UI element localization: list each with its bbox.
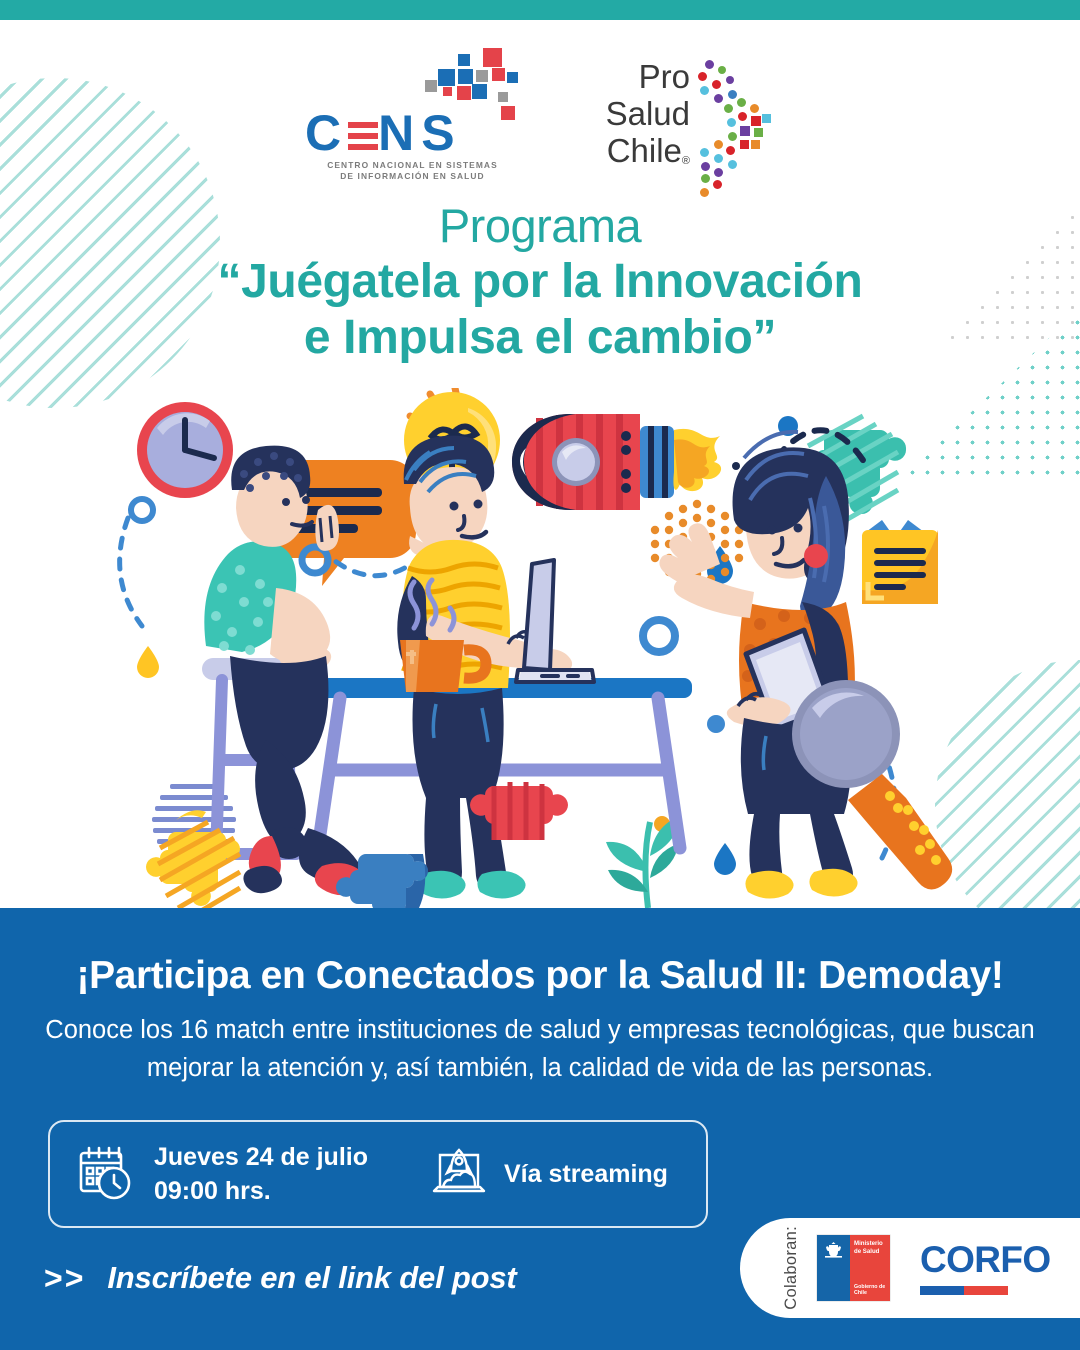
collaborators-card: Colaboran: Ministerio de Salud Gobierno … [740, 1218, 1080, 1318]
cens-letter-e [348, 120, 378, 154]
register-cta[interactable]: >> Inscríbete en el link del post [44, 1260, 517, 1296]
cens-letter-c: C [305, 105, 348, 161]
program-title-block: Programa “Juégatela por la Innovación e … [0, 198, 1080, 366]
psc-line-salud: Salud [560, 95, 690, 132]
pro-salud-chile-dot-mark-icon [698, 60, 770, 182]
cens-letter-n: N [378, 105, 421, 161]
rocket-laptop-icon [430, 1143, 488, 1206]
teamwork-innovation-illustration [110, 388, 970, 910]
double-chevron-icon: >> [44, 1262, 85, 1294]
corfo-wordmark: CORFO [920, 1241, 1052, 1279]
streaming-label: Vía streaming [504, 1160, 668, 1189]
cens-letter-s: S [421, 105, 461, 161]
program-title-line2: e Impulsa el cambio” [0, 310, 1080, 366]
coat-of-arms-icon [824, 1241, 843, 1264]
event-date-item: Jueves 24 de julio 09:00 hrs. [76, 1140, 368, 1208]
cens-tagline-line2: DE INFORMACIÓN EN SALUD [305, 171, 520, 182]
program-label: Programa [0, 198, 1080, 254]
cens-tagline-line1: CENTRO NACIONAL EN SISTEMAS [305, 160, 520, 171]
event-headline: ¡Participa en Conectados por la Salud II… [0, 954, 1080, 998]
registered-mark: ® [682, 155, 690, 167]
event-time-line2: 09:00 hrs. [154, 1174, 368, 1208]
collaborators-label: Colaboran: [782, 1226, 801, 1310]
event-date-text: Jueves 24 de julio 09:00 hrs. [154, 1140, 368, 1208]
minsal-top-text: Ministerio de Salud [854, 1240, 890, 1255]
calendar-clock-icon [76, 1141, 138, 1208]
ministerio-de-salud-logo: Ministerio de Salud Gobierno de Chile [817, 1235, 890, 1301]
corfo-flag-bar [920, 1286, 1008, 1295]
pro-salud-chile-wordmark: Pro Salud Chile® [560, 58, 690, 180]
event-description: Conoce los 16 match entre instituciones … [40, 1011, 1040, 1087]
event-date-line1: Jueves 24 de julio [154, 1140, 368, 1174]
cens-wordmark: CNS [305, 110, 520, 156]
cens-tagline: CENTRO NACIONAL EN SISTEMAS DE INFORMACI… [305, 160, 520, 182]
minsal-bottom-text: Gobierno de Chile [854, 1284, 890, 1296]
top-accent-bar [0, 0, 1080, 20]
program-title-line1: “Juégatela por la Innovación [0, 254, 1080, 310]
corfo-logo: CORFO [920, 1241, 1052, 1295]
event-details-box: Jueves 24 de julio 09:00 hrs. Vía stream… [48, 1120, 708, 1228]
pro-salud-chile-logo: Pro Salud Chile® [560, 58, 770, 188]
cens-logo: CNS CENTRO NACIONAL EN SISTEMAS DE INFOR… [305, 48, 520, 188]
psc-line-chile: Chile [607, 132, 682, 169]
register-cta-label[interactable]: Inscríbete en el link del post [107, 1260, 516, 1296]
event-streaming-item: Vía streaming [430, 1143, 668, 1206]
psc-line-pro: Pro [560, 58, 690, 95]
logo-row: CNS CENTRO NACIONAL EN SISTEMAS DE INFOR… [0, 40, 1080, 190]
